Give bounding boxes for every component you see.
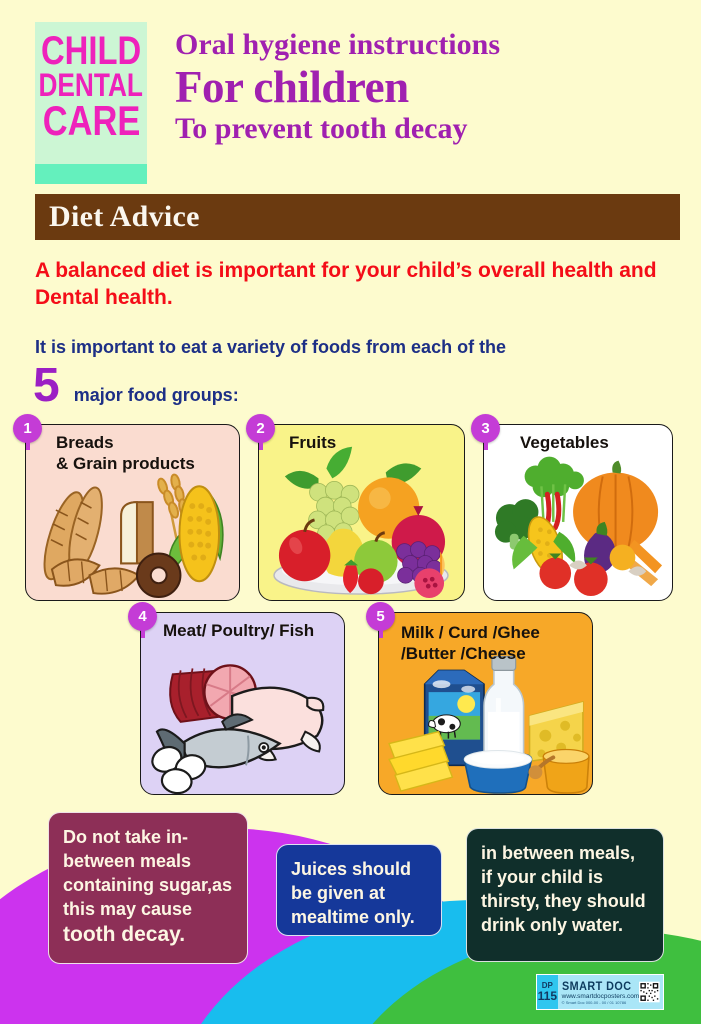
footer-brand-block: SMART DOC www.smartdocposters.com © Smar… — [558, 979, 640, 1005]
title-line-audience: For children — [175, 62, 685, 112]
food-group-badge-2: 2 — [246, 414, 275, 443]
footer-fine-print: © Smart Doc 000-00 - 00 / 01 10786 — [562, 1000, 640, 1005]
footer-code-number: 115 — [538, 990, 557, 1003]
brand-logo: CHILD DENTAL CARE — [35, 22, 147, 184]
section-header-diet-advice: Diet Advice — [35, 194, 680, 240]
food-group-count-row: 5 major food groups: — [33, 362, 239, 410]
food-group-card-dairy[interactable]: 5 Milk / Curd /Ghee /Butter /Cheese — [378, 612, 593, 795]
poster-header: CHILD DENTAL CARE Oral hygiene instructi… — [0, 0, 701, 186]
food-group-title-meat: Meat/ Poultry/ Fish — [163, 621, 314, 642]
food-group-card-vegetables[interactable]: 3 Vegetables — [483, 424, 673, 601]
advice-text-main: Juices should be given at mealtime only. — [291, 859, 415, 927]
food-group-title-fruits: Fruits — [289, 433, 336, 454]
food-group-badge-1: 1 — [13, 414, 42, 443]
title-line-subject: Oral hygiene instructions — [175, 28, 685, 62]
advice-box-drink-only-water: in between meals, if your child is thirs… — [466, 828, 664, 962]
food-group-card-breads[interactable]: 1 Breads & Grain products — [25, 424, 240, 601]
food-group-count-numeral: 5 — [33, 362, 60, 410]
advice-box-no-sugar-snacks: Do not take in-between meals containing … — [48, 812, 248, 964]
advice-text-main: Do not take in-between meals containing … — [63, 827, 232, 919]
food-group-badge-5: 5 — [366, 602, 395, 631]
page-title: Oral hygiene instructions For children T… — [175, 28, 685, 146]
footer-website-url: www.smartdocposters.com — [562, 993, 640, 1000]
food-group-badge-4: 4 — [128, 602, 157, 631]
food-group-title-line-2: /Butter /Cheese — [401, 644, 540, 665]
food-group-badge-3: 3 — [471, 414, 500, 443]
footer-publisher-badge[interactable]: DP 115 SMART DOC www.smartdocposters.com… — [536, 974, 664, 1010]
poster-canvas: CHILD DENTAL CARE Oral hygiene instructi… — [0, 0, 701, 1024]
footer-brand-name: SMART DOC — [562, 979, 632, 993]
intro-balanced-diet-text: A balanced diet is important for your ch… — [35, 258, 665, 312]
food-group-title-line-1: Breads — [56, 433, 195, 454]
food-group-card-fruits[interactable]: 2 Fruits — [258, 424, 465, 601]
advice-box-juices-at-mealtime: Juices should be given at mealtime only. — [276, 844, 442, 936]
food-group-card-meat-poultry-fish[interactable]: 4 Meat/ Poultry/ Fish — [140, 612, 345, 795]
section-header-label: Diet Advice — [35, 200, 200, 234]
food-group-title-line-2: & Grain products — [56, 454, 195, 475]
advice-text-emphasis: tooth decay. — [63, 923, 185, 946]
food-group-title-line-1: Milk / Curd /Ghee — [401, 623, 540, 644]
intro-variety-text: It is important to eat a variety of food… — [35, 336, 675, 359]
brand-logo-line-3: CARE — [42, 101, 140, 141]
brand-logo-accent-bar — [35, 164, 147, 184]
food-group-title-dairy: Milk / Curd /Ghee /Butter /Cheese — [401, 623, 540, 664]
food-group-count-label: major food groups: — [74, 385, 239, 406]
food-group-title-breads: Breads & Grain products — [56, 433, 195, 474]
title-line-purpose: To prevent tooth decay — [175, 112, 685, 146]
footer-poster-code: DP 115 — [537, 975, 558, 1009]
qr-code-icon[interactable] — [639, 977, 660, 1007]
advice-text-main: in between meals, if your child is thirs… — [481, 843, 646, 935]
food-group-title-vegetables: Vegetables — [520, 433, 609, 454]
brand-logo-line-1: CHILD — [41, 32, 141, 70]
